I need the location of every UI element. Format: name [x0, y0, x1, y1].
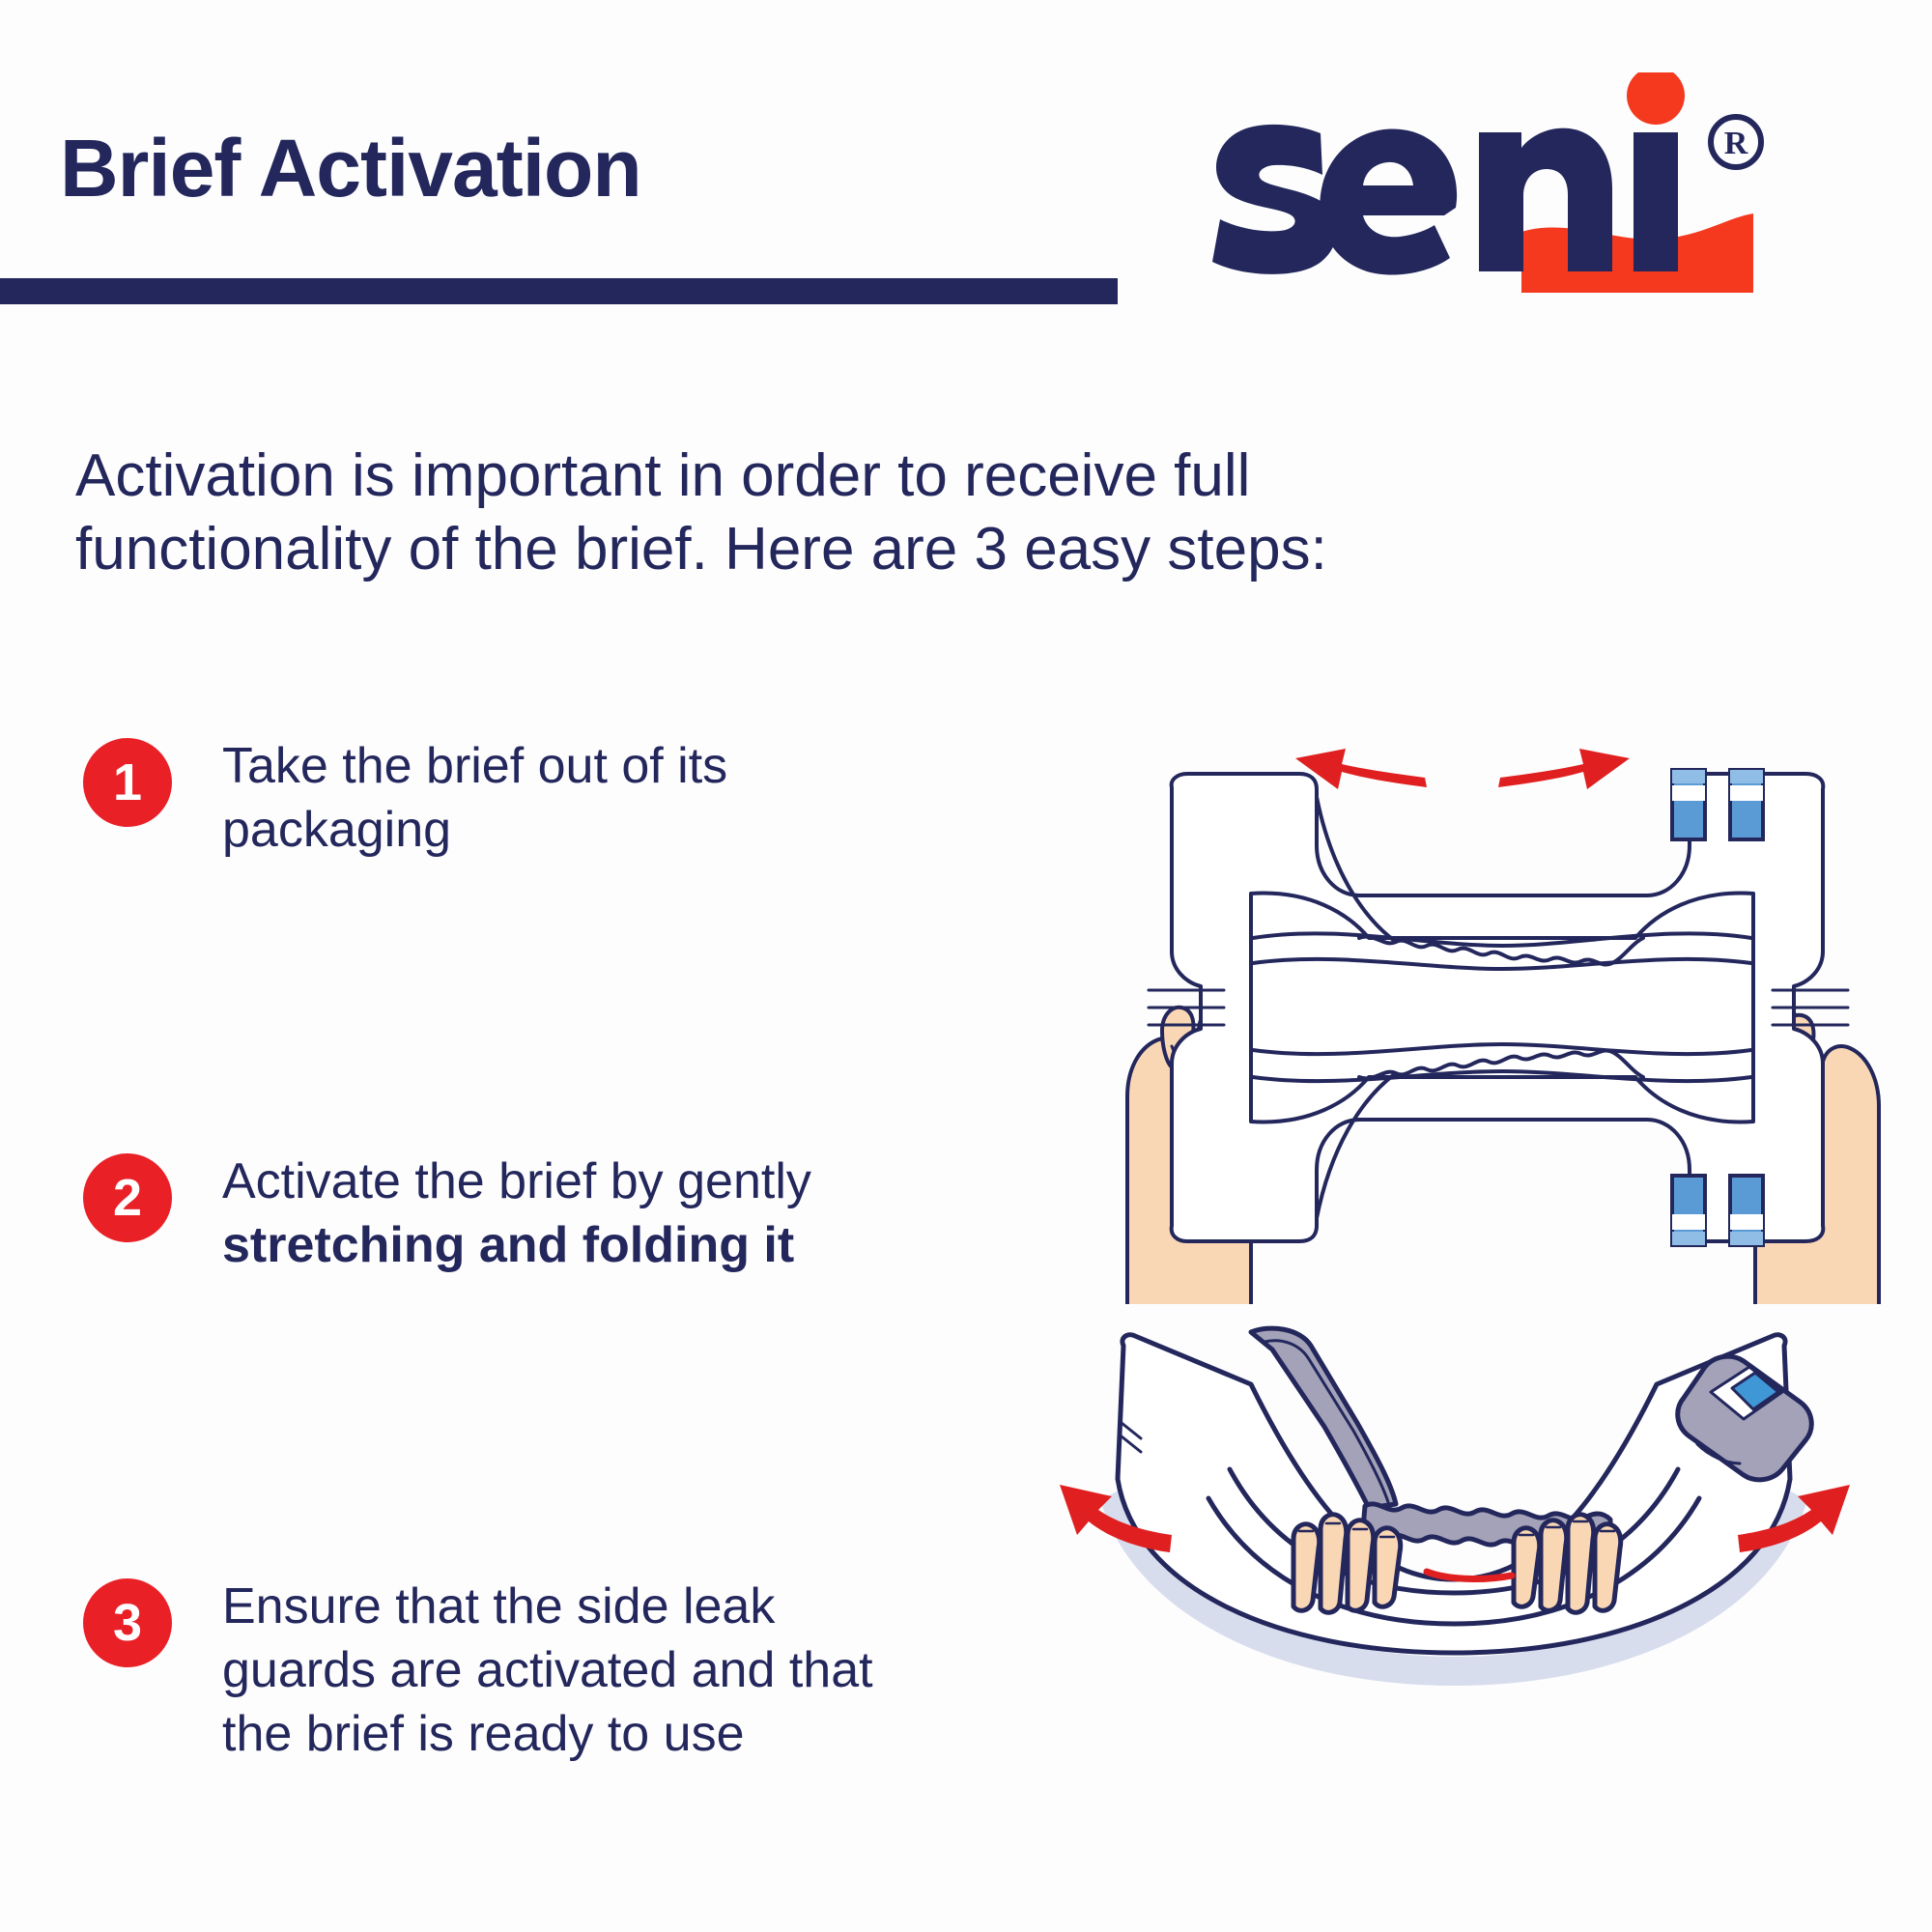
step-item-2: 2 Activate the brief by gently stretchin… [83, 1150, 875, 1277]
brief-tab-top-left [1672, 770, 1705, 839]
logo-letter-e [1320, 128, 1457, 274]
step-text-2-bold: stretching and folding it [222, 1217, 794, 1273]
seni-logo: R [1203, 72, 1821, 299]
step-item-3: 3 Ensure that the side leak guards are a… [83, 1575, 914, 1766]
stretch-arrow-right-icon [1498, 749, 1630, 789]
logo-letter-s [1212, 125, 1337, 274]
intro-paragraph: Activation is important in order to rece… [75, 440, 1447, 585]
step-text-1: Take the brief out of its packaging [222, 734, 875, 862]
brief-tab-top-right [1730, 770, 1763, 839]
brief-fold-illustration [1009, 1299, 1898, 1700]
left-hand-fold-icon [1293, 1515, 1401, 1612]
brief-tab-bottom-right [1730, 1176, 1763, 1245]
brief-tab-bottom-left [1672, 1176, 1705, 1245]
step-number-badge-1: 1 [83, 738, 172, 827]
title-underline-rule [0, 278, 1118, 304]
step-number-badge-3: 3 [83, 1578, 172, 1667]
step-number-badge-2: 2 [83, 1153, 172, 1242]
page-header: Brief Activation R [0, 0, 1932, 348]
brief-stretch-illustration [1106, 710, 1898, 1304]
brief-folded-body [1118, 1335, 1790, 1653]
step-item-1: 1 Take the brief out of its packaging [83, 734, 875, 862]
page-title: Brief Activation [60, 128, 641, 209]
registered-trademark-icon: R [1711, 117, 1761, 167]
svg-text:R: R [1724, 126, 1748, 161]
right-hand-fold-icon [1514, 1515, 1621, 1612]
logo-letter-i-stem [1634, 132, 1678, 271]
logo-letter-i-dot [1627, 72, 1685, 125]
step-text-2-normal: Activate the brief by gently [222, 1153, 811, 1209]
step-text-3: Ensure that the side leak guards are act… [222, 1575, 914, 1766]
step-text-2: Activate the brief by gently stretching … [222, 1150, 875, 1277]
